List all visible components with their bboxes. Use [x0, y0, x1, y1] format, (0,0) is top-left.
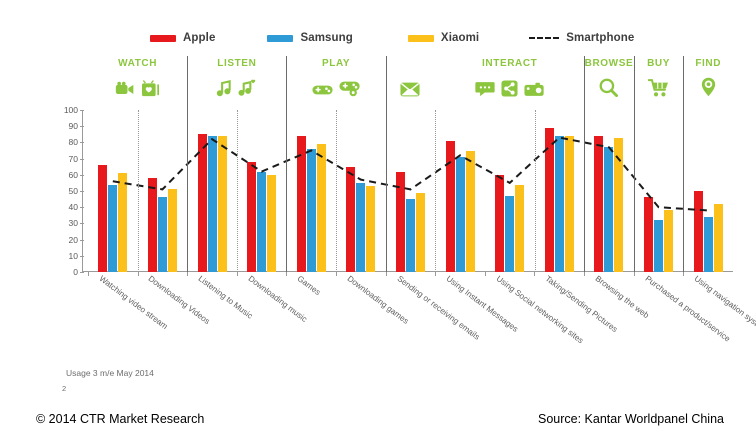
category-group-listen: LISTEN	[187, 58, 286, 97]
legend-label-smartphone: Smartphone	[566, 32, 634, 44]
category-icon-row	[386, 71, 436, 97]
chart-legend: Apple Samsung Xiaomi Smartphone	[150, 30, 620, 46]
legend-dashed-line-smartphone	[529, 37, 559, 39]
category-group-email	[386, 58, 436, 97]
smartphone-line-path	[113, 138, 708, 211]
y-tick-label: 40	[56, 202, 78, 212]
y-tick-label: 100	[56, 105, 78, 115]
category-divider-dotted	[237, 110, 238, 272]
legend-item-xiaomi: Xiaomi	[408, 32, 479, 44]
category-divider-solid	[634, 56, 635, 272]
category-divider-solid	[683, 56, 684, 272]
location-pin-icon	[701, 77, 716, 97]
legend-label-samsung: Samsung	[300, 32, 352, 44]
share-icon	[501, 80, 518, 97]
y-tick-mark	[80, 272, 84, 273]
category-divider-solid	[386, 56, 387, 272]
category-icon-row	[683, 71, 733, 97]
y-tick-label: 70	[56, 154, 78, 164]
category-group-interact: INTERACT	[435, 58, 584, 97]
category-name: INTERACT	[435, 58, 584, 69]
category-group-browse: BROWSE	[584, 58, 634, 97]
y-axis: 0102030405060708090100	[56, 105, 82, 277]
page-number: 2	[62, 384, 66, 393]
x-axis-label: Sending or receiving emails	[395, 274, 481, 342]
x-axis-labels: Watching video streamDownloading VideosL…	[88, 272, 733, 367]
y-tick-label: 50	[56, 186, 78, 196]
category-name: PLAY	[286, 58, 385, 69]
y-axis-line	[82, 110, 83, 272]
category-name: BUY	[634, 58, 684, 69]
x-axis-label: Games	[296, 274, 322, 297]
category-divider-dotted	[435, 110, 436, 272]
category-divider-dotted	[535, 110, 536, 272]
y-tick-label: 30	[56, 218, 78, 228]
video-camera-icon	[115, 81, 135, 97]
category-name: LISTEN	[187, 58, 286, 69]
legend-label-xiaomi: Xiaomi	[441, 32, 479, 44]
y-tick-label: 60	[56, 170, 78, 180]
category-group-find: FIND	[683, 58, 733, 97]
legend-swatch-samsung	[267, 35, 293, 42]
category-name: WATCH	[88, 58, 187, 69]
category-name: BROWSE	[584, 58, 634, 69]
footer-copyright: © 2014 CTR Market Research	[36, 412, 204, 426]
legend-item-apple: Apple	[150, 32, 215, 44]
y-tick-label: 10	[56, 251, 78, 261]
x-axis-label: Purchased a product/service	[643, 274, 731, 344]
category-divider-dotted	[138, 110, 139, 272]
shopping-cart-icon	[648, 79, 669, 97]
category-icon-row	[88, 71, 187, 97]
legend-label-apple: Apple	[183, 32, 215, 44]
slide: Apple Samsung Xiaomi Smartphone WATCHLIS…	[0, 0, 756, 441]
camera-icon	[524, 82, 545, 97]
category-header-band: WATCHLISTENPLAY INTERACTBROWSEBUYFIND	[88, 58, 733, 104]
chart-plot-area: 0102030405060708090100	[88, 110, 733, 272]
category-icon-row	[634, 71, 684, 97]
category-icon-row	[286, 71, 385, 97]
category-group-play: PLAY	[286, 58, 385, 97]
usage-note: Usage 3 m/e May 2014	[66, 368, 154, 378]
x-axis-label: Using Social networking sites	[494, 274, 584, 345]
legend-swatch-apple	[150, 35, 176, 42]
tv-heart-icon	[141, 80, 160, 97]
music-note-icon	[216, 80, 232, 97]
category-divider-solid	[286, 56, 287, 272]
category-group-buy: BUY	[634, 58, 684, 97]
legend-item-samsung: Samsung	[267, 32, 352, 44]
gamepad-icon	[312, 83, 333, 97]
category-icon-row	[435, 71, 584, 97]
category-name	[386, 58, 436, 69]
legend-swatch-xiaomi	[408, 35, 434, 42]
y-tick-label: 90	[56, 121, 78, 131]
music-note-heart-icon	[238, 79, 257, 97]
smartphone-trend-line	[88, 110, 733, 272]
category-icon-row	[584, 71, 634, 97]
chat-bubble-icon	[475, 81, 495, 97]
category-group-watch: WATCH	[88, 58, 187, 97]
gamepad-settings-icon	[339, 80, 361, 97]
category-divider-dotted	[336, 110, 337, 272]
category-divider-solid	[584, 56, 585, 272]
category-name: FIND	[683, 58, 733, 69]
legend-item-smartphone: Smartphone	[529, 32, 634, 44]
category-divider-solid	[187, 56, 188, 272]
y-tick-label: 0	[56, 267, 78, 277]
y-tick-label: 20	[56, 235, 78, 245]
footer-source: Source: Kantar Worldpanel China	[538, 412, 724, 426]
category-icon-row	[187, 71, 286, 97]
magnifier-icon	[599, 78, 618, 97]
y-tick-label: 80	[56, 137, 78, 147]
envelope-icon	[400, 82, 420, 97]
